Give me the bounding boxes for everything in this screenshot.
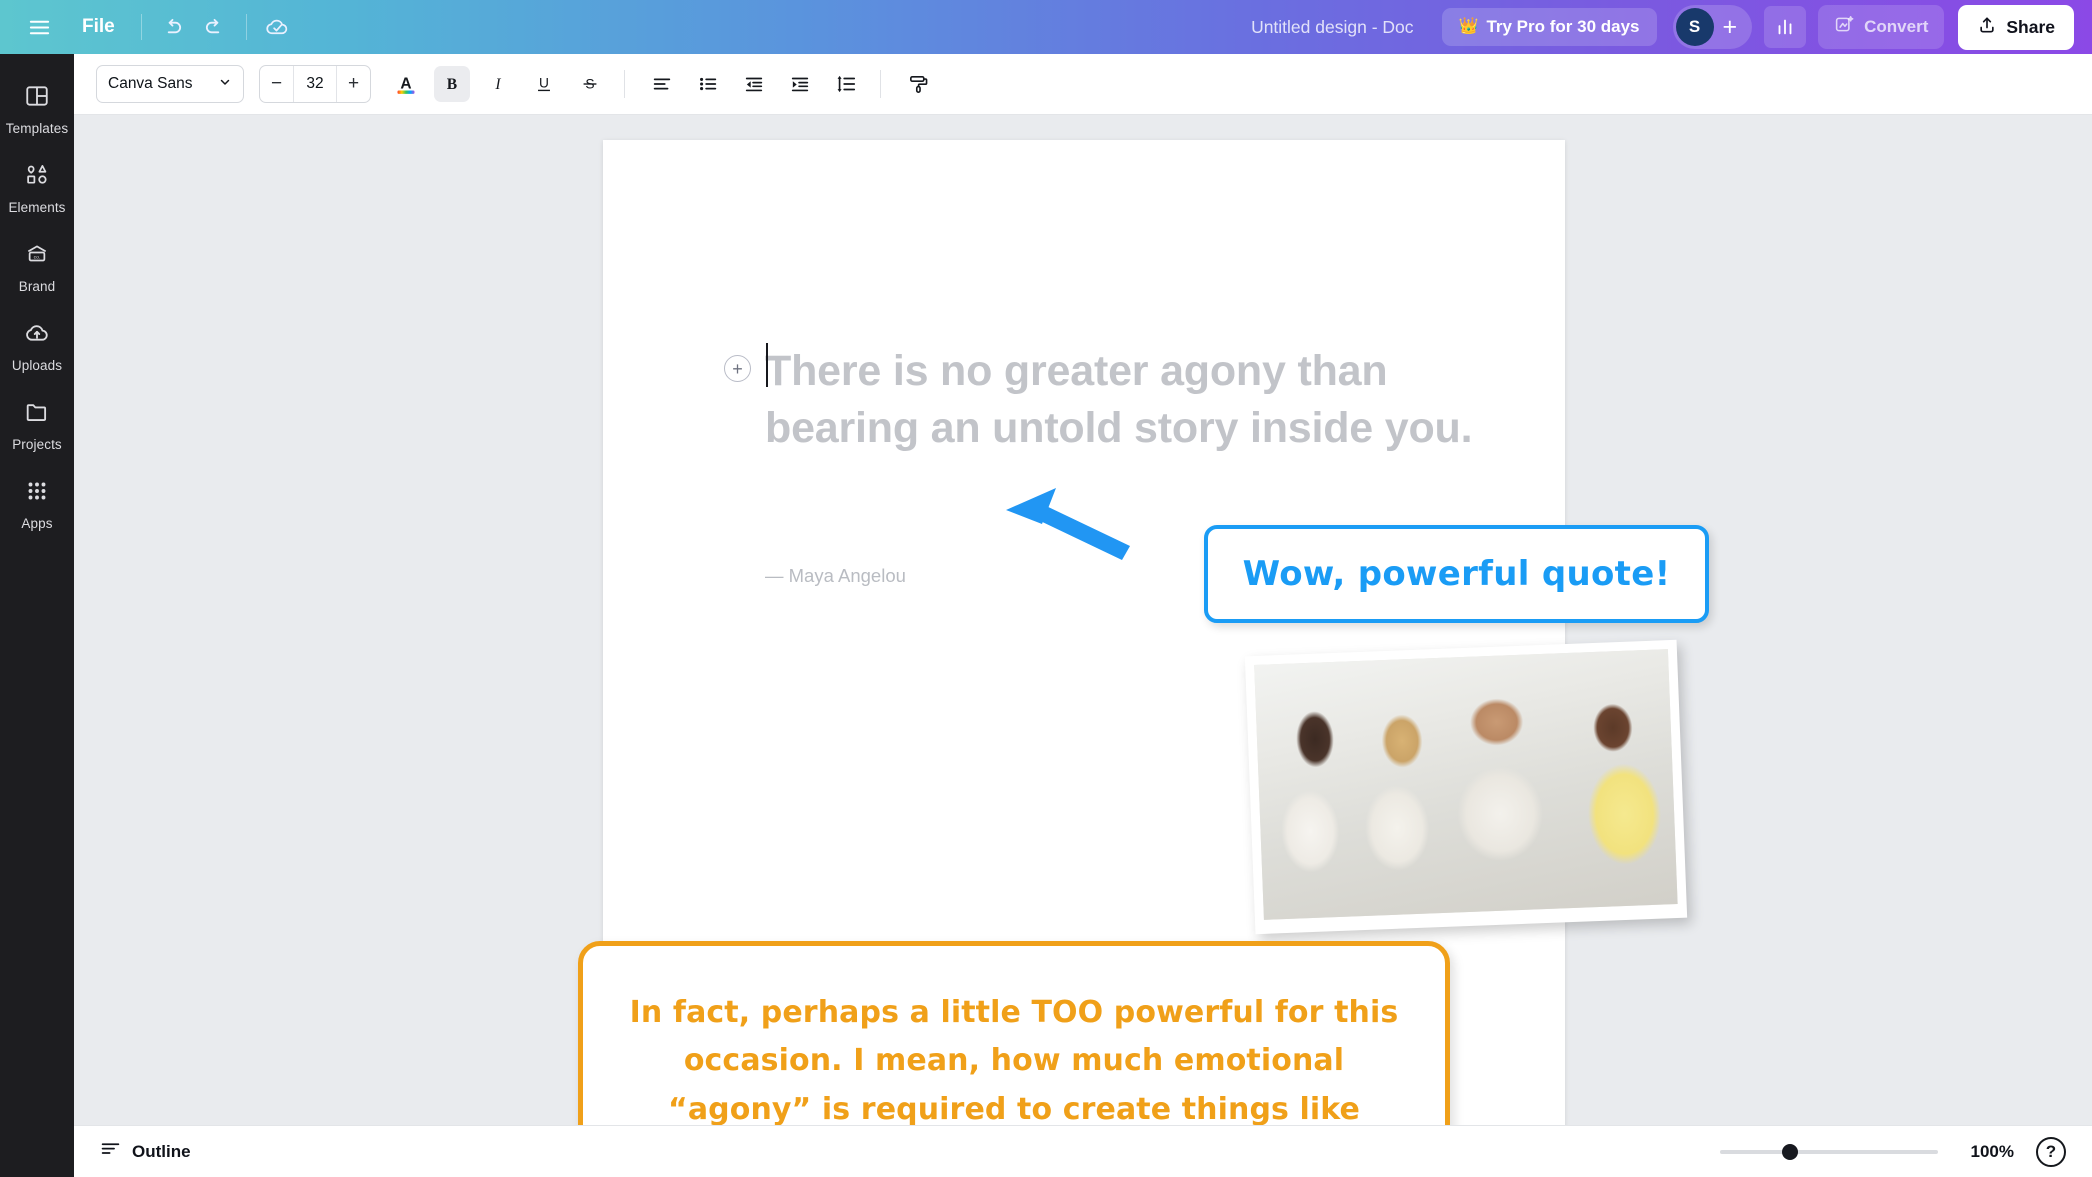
sidebar-item-label: Elements: [8, 200, 65, 215]
outline-button[interactable]: Outline: [100, 1139, 191, 1165]
crown-icon: 👑: [1459, 19, 1479, 35]
photo-image: [1254, 649, 1677, 920]
strikethrough-button[interactable]: S: [572, 66, 608, 102]
zoom-slider[interactable]: [1720, 1142, 1938, 1162]
divider: [246, 14, 247, 40]
callout-orange[interactable]: In fact, perhaps a little TOO powerful f…: [578, 941, 1450, 1125]
brand-icon: co.: [24, 241, 50, 272]
font-size-increase-button[interactable]: +: [337, 66, 370, 102]
group-support-photo[interactable]: [1245, 640, 1687, 934]
divider: [141, 14, 142, 40]
outdent-button[interactable]: [736, 66, 772, 102]
top-bar: File Untitled design - Doc 👑 Try Pro for…: [0, 0, 2092, 54]
sidebar-item-elements[interactable]: Elements: [0, 149, 74, 228]
quote-attribution[interactable]: — Maya Angelou: [765, 565, 906, 587]
sidebar-item-label: Brand: [19, 279, 56, 294]
sidebar-item-label: Apps: [21, 516, 52, 531]
bold-button[interactable]: B: [434, 66, 470, 102]
hamburger-icon[interactable]: [18, 6, 60, 48]
svg-text:A: A: [400, 76, 411, 93]
share-button[interactable]: Share: [1958, 5, 2074, 50]
magic-convert-icon: [1834, 14, 1855, 40]
sidebar-item-label: Uploads: [12, 358, 62, 373]
paint-roller-icon[interactable]: [900, 66, 936, 102]
bar-chart-icon[interactable]: [1764, 6, 1806, 48]
add-block-button[interactable]: +: [724, 355, 751, 382]
file-menu-button[interactable]: File: [66, 8, 131, 46]
speech-bubble-text: Wow, powerful quote!: [1243, 554, 1671, 594]
document-title[interactable]: Untitled design - Doc: [1237, 9, 1427, 46]
blue-arrow: [1004, 480, 1154, 570]
svg-text:B: B: [447, 76, 457, 93]
redo-icon[interactable]: [194, 6, 236, 48]
svg-text:U: U: [539, 76, 549, 91]
apps-grid-icon: [24, 478, 50, 509]
font-family-value: Canva Sans: [108, 75, 192, 93]
avatar[interactable]: S: [1676, 8, 1714, 46]
share-label: Share: [2006, 17, 2055, 38]
elements-icon: [24, 162, 50, 193]
collaborators-group[interactable]: S +: [1673, 5, 1753, 49]
sidebar-item-label: Projects: [12, 437, 62, 452]
underline-button[interactable]: U: [526, 66, 562, 102]
add-collaborator-button[interactable]: +: [1718, 15, 1743, 40]
outline-label: Outline: [132, 1142, 191, 1162]
share-upload-icon: [1977, 15, 1997, 40]
callout-text: In fact, perhaps a little TOO powerful f…: [613, 989, 1415, 1125]
line-spacing-button[interactable]: [828, 66, 864, 102]
format-toolbar: Canva Sans − 32 + A B I: [74, 54, 2092, 115]
try-pro-button[interactable]: 👑 Try Pro for 30 days: [1442, 8, 1657, 46]
sidebar-item-apps[interactable]: Apps: [0, 465, 74, 544]
document-canvas[interactable]: + There is no greater agony than bearing…: [74, 115, 2092, 1125]
speech-bubble-blue[interactable]: Wow, powerful quote!: [1204, 525, 1709, 623]
sidebar-item-uploads[interactable]: Uploads: [0, 307, 74, 386]
zoom-level-value[interactable]: 100%: [1960, 1142, 2014, 1162]
chevron-down-icon: [218, 75, 232, 94]
indent-button[interactable]: [782, 66, 818, 102]
font-family-select[interactable]: Canva Sans: [96, 65, 244, 103]
svg-text:co.: co.: [34, 255, 41, 261]
sidebar-item-label: Templates: [6, 121, 68, 136]
zoom-slider-track: [1720, 1150, 1938, 1154]
folder-icon: [24, 399, 50, 430]
text-caret: [766, 343, 768, 387]
cloud-check-icon[interactable]: [257, 6, 299, 48]
italic-button[interactable]: I: [480, 66, 516, 102]
help-button[interactable]: ?: [2036, 1137, 2066, 1167]
try-pro-label: Try Pro for 30 days: [1486, 17, 1639, 37]
font-size-stepper[interactable]: − 32 +: [259, 65, 371, 103]
convert-label: Convert: [1864, 17, 1928, 37]
convert-button[interactable]: Convert: [1818, 5, 1944, 49]
quote-text[interactable]: There is no greater agony than bearing a…: [765, 343, 1485, 457]
svg-text:I: I: [494, 76, 501, 93]
text-color-button[interactable]: A: [388, 66, 424, 102]
divider: [624, 70, 625, 98]
bottom-bar: Outline 100% ?: [74, 1125, 2092, 1177]
font-size-decrease-button[interactable]: −: [260, 66, 293, 102]
align-left-button[interactable]: [644, 66, 680, 102]
divider: [880, 70, 881, 98]
left-sidebar: Templates Elements co. Brand: [0, 54, 74, 1177]
uploads-cloud-icon: [24, 320, 50, 351]
sidebar-item-brand[interactable]: co. Brand: [0, 228, 74, 307]
bulleted-list-button[interactable]: [690, 66, 726, 102]
sidebar-item-templates[interactable]: Templates: [0, 70, 74, 149]
undo-icon[interactable]: [152, 6, 194, 48]
sidebar-item-projects[interactable]: Projects: [0, 386, 74, 465]
outline-lines-icon: [100, 1139, 121, 1165]
font-size-input[interactable]: 32: [294, 75, 336, 93]
zoom-slider-knob[interactable]: [1782, 1144, 1798, 1160]
templates-icon: [24, 83, 50, 114]
